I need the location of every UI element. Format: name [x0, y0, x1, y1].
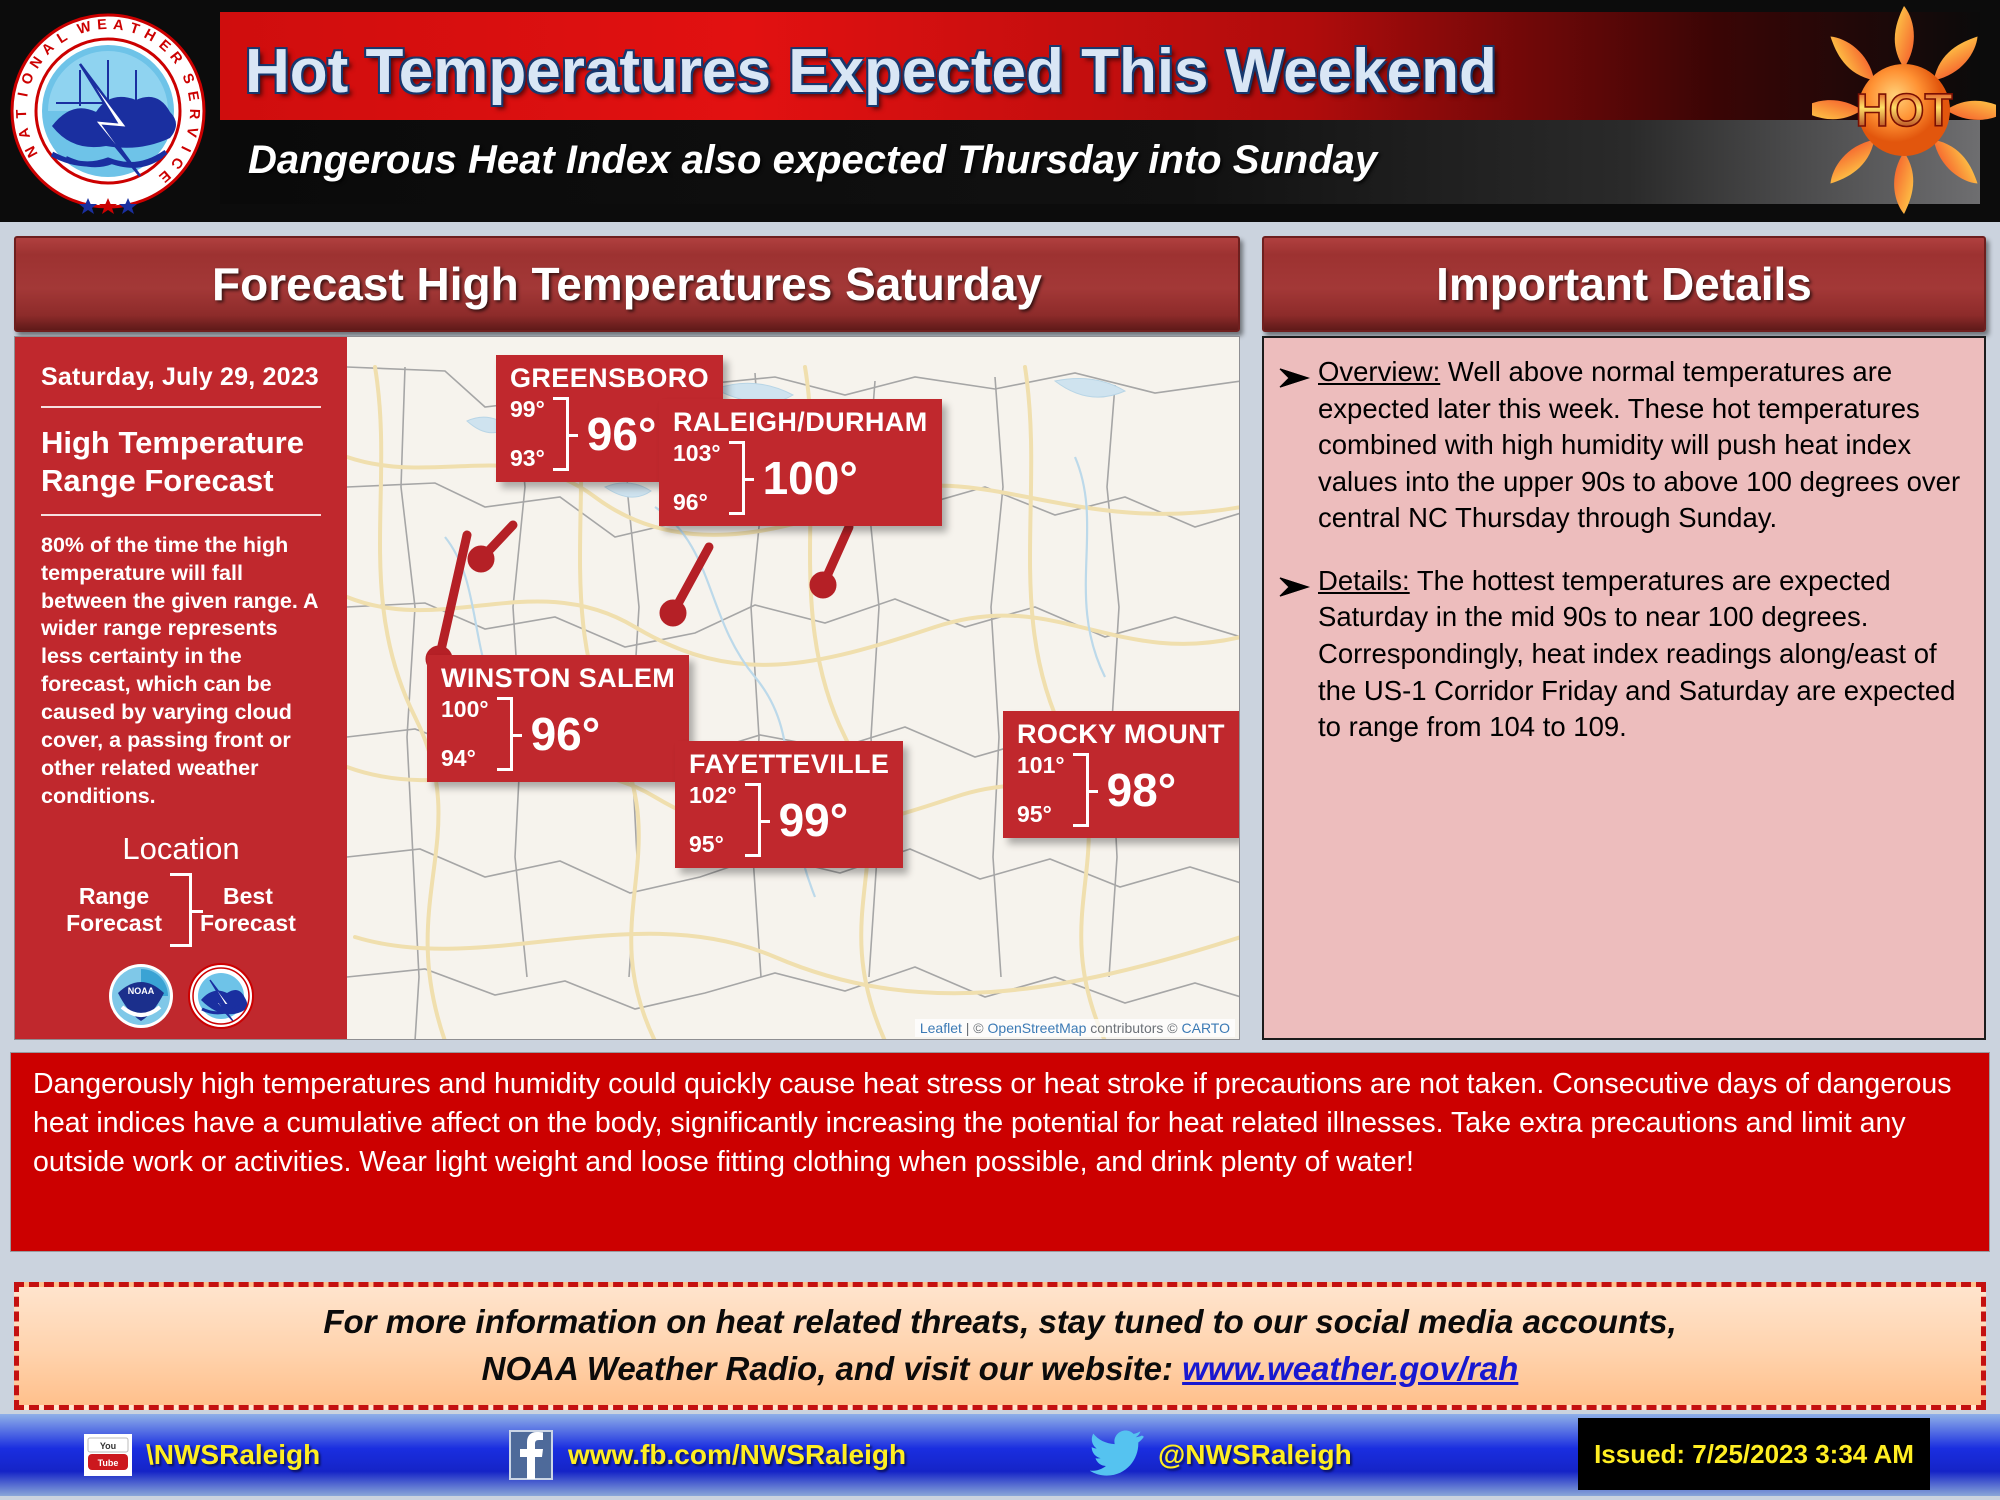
callout-high: 101° — [1017, 752, 1065, 779]
callout-temps: 103° 96° 100° — [673, 440, 928, 516]
callout-temps: 102° 95° 99° — [689, 782, 889, 858]
callout-city-name: FAYETTEVILLE — [689, 749, 889, 780]
youtube-icon[interactable]: You Tube — [84, 1434, 132, 1476]
detail-text-details: Details: The hottest temperatures are ex… — [1318, 563, 1966, 746]
callout-best: 96° — [587, 396, 657, 472]
callout-range: 103° 96° — [673, 440, 721, 516]
issued-timestamp: Issued: 7/25/2023 3:34 AM — [1594, 1439, 1914, 1470]
callout-best: 96° — [531, 696, 601, 772]
callout-brace-icon — [497, 697, 513, 771]
callout-brace-icon — [553, 397, 569, 471]
svg-text:T: T — [14, 109, 30, 119]
twitter-icon[interactable] — [1090, 1429, 1144, 1482]
detail-lead-overview: Overview: — [1318, 356, 1440, 387]
more-information-box: For more information on heat related thr… — [14, 1282, 1986, 1410]
detail-bullet-overview: Overview: Well above normal temperatures… — [1278, 354, 1966, 537]
callout-range: 101° 95° — [1017, 752, 1065, 828]
callout-high: 103° — [673, 440, 721, 467]
callout-city-name: ROCKY MOUNT — [1017, 719, 1225, 750]
twitter-handle[interactable]: @NWSRaleigh — [1158, 1439, 1352, 1471]
heat-warning-text: Dangerously high temperatures and humidi… — [33, 1068, 1952, 1178]
header-title: Hot Temperatures Expected This Weekend — [245, 30, 1805, 114]
callout-temps: 100° 94° 96° — [441, 696, 675, 772]
attribution-leaflet[interactable]: Leaflet — [920, 1020, 962, 1036]
panel-header-forecast: Forecast High Temperatures Saturday — [14, 236, 1240, 332]
callout-brace-icon — [745, 783, 761, 857]
callout-range: 99° 93° — [510, 396, 545, 472]
hot-sun-icon: HOT — [1812, 4, 1996, 216]
callout-brace-icon — [729, 441, 745, 515]
detail-lead-details: Details: — [1318, 565, 1410, 596]
callout-brace-icon — [1073, 753, 1089, 827]
infographic-root: N A T I O N A L W E A T H E R S E — [0, 0, 2000, 1500]
callout-best: 98° — [1107, 752, 1177, 828]
heat-warning-block: Dangerously high temperatures and humidi… — [10, 1052, 1990, 1252]
callout-best: 100° — [763, 440, 858, 516]
svg-text:Tube: Tube — [98, 1458, 119, 1468]
callout-best: 99° — [779, 782, 849, 858]
callout-high: 99° — [510, 396, 545, 423]
detail-body-details: The hottest temperatures are expected Sa… — [1318, 565, 1955, 742]
detail-text-overview: Overview: Well above normal temperatures… — [1318, 354, 1966, 537]
panel-header-details-label: Important Details — [1436, 257, 1812, 311]
callout-high: 102° — [689, 782, 737, 809]
website-link[interactable]: www.weather.gov/rah — [1182, 1350, 1518, 1387]
callout-low: 96° — [673, 489, 721, 516]
callout-city-name: RALEIGH/DURHAM — [673, 407, 928, 438]
panel-header-forecast-label: Forecast High Temperatures Saturday — [212, 257, 1042, 311]
arrow-bullet-icon — [1278, 354, 1318, 537]
callout-city-name: GREENSBORO — [510, 363, 709, 394]
legend-issued: Issued: Tue, Jul 25, 2023, 3 AM — [41, 1039, 321, 1040]
nws-seal-icon: N A T I O N A L W E A T H E R S E — [8, 8, 208, 214]
important-details-panel: Overview: Well above normal temperatures… — [1262, 336, 1986, 1040]
attribution-carto[interactable]: CARTO — [1182, 1020, 1231, 1036]
svg-text:E: E — [97, 17, 108, 34]
header-banner: N A T I O N A L W E A T H E R S E — [0, 0, 2000, 222]
callout-low: 95° — [689, 831, 737, 858]
callout-city-name: WINSTON SALEM — [441, 663, 675, 694]
info-line-1: For more information on heat related thr… — [323, 1299, 1676, 1346]
issued-timestamp-box: Issued: 7/25/2023 3:34 AM — [1578, 1418, 1930, 1490]
callout-low: 93° — [510, 445, 545, 472]
attribution-osm[interactable]: OpenStreetMap — [988, 1020, 1087, 1036]
svg-text:You: You — [100, 1441, 116, 1451]
map-callout-winston-salem[interactable]: WINSTON SALEM 100° 94° 96° — [427, 655, 689, 782]
map-attribution[interactable]: Leaflet | © OpenStreetMap contributors ©… — [915, 1019, 1235, 1037]
panel-header-details: Important Details — [1262, 236, 1986, 332]
info-line-2-text: NOAA Weather Radio, and visit our websit… — [482, 1350, 1182, 1387]
facebook-handle[interactable]: www.fb.com/NWSRaleigh — [568, 1439, 906, 1471]
arrow-bullet-icon — [1278, 563, 1318, 746]
callout-temps: 101° 95° 98° — [1017, 752, 1225, 828]
map-callout-fayetteville[interactable]: FAYETTEVILLE 102° 95° 99° — [675, 741, 903, 868]
header-subtitle: Dangerous Heat Index also expected Thurs… — [248, 128, 1748, 192]
detail-bullet-details: Details: The hottest temperatures are ex… — [1278, 563, 1966, 746]
map-callout-rocky-mount[interactable]: ROCKY MOUNT 101° 95° 98° — [1003, 711, 1239, 838]
callout-low: 94° — [441, 745, 489, 772]
map-callout-raleigh-durham[interactable]: RALEIGH/DURHAM 103° 96° 100° — [659, 399, 942, 526]
callout-low: 95° — [1017, 801, 1065, 828]
facebook-icon[interactable] — [508, 1429, 554, 1481]
footer-youtube[interactable]: You Tube \NWSRaleigh — [84, 1414, 320, 1496]
youtube-handle[interactable]: \NWSRaleigh — [146, 1439, 320, 1471]
callout-high: 100° — [441, 696, 489, 723]
footer-twitter[interactable]: @NWSRaleigh — [1090, 1414, 1352, 1496]
callout-range: 102° 95° — [689, 782, 737, 858]
hot-badge-text: HOT — [1855, 84, 1952, 136]
footer-facebook[interactable]: www.fb.com/NWSRaleigh — [508, 1414, 906, 1496]
svg-text:R: R — [186, 108, 202, 120]
info-line-2: NOAA Weather Radio, and visit our websit… — [482, 1346, 1519, 1393]
callout-range: 100° 94° — [441, 696, 489, 772]
forecast-map-panel[interactable]: Saturday, July 29, 2023 High Temperature… — [14, 336, 1240, 1040]
